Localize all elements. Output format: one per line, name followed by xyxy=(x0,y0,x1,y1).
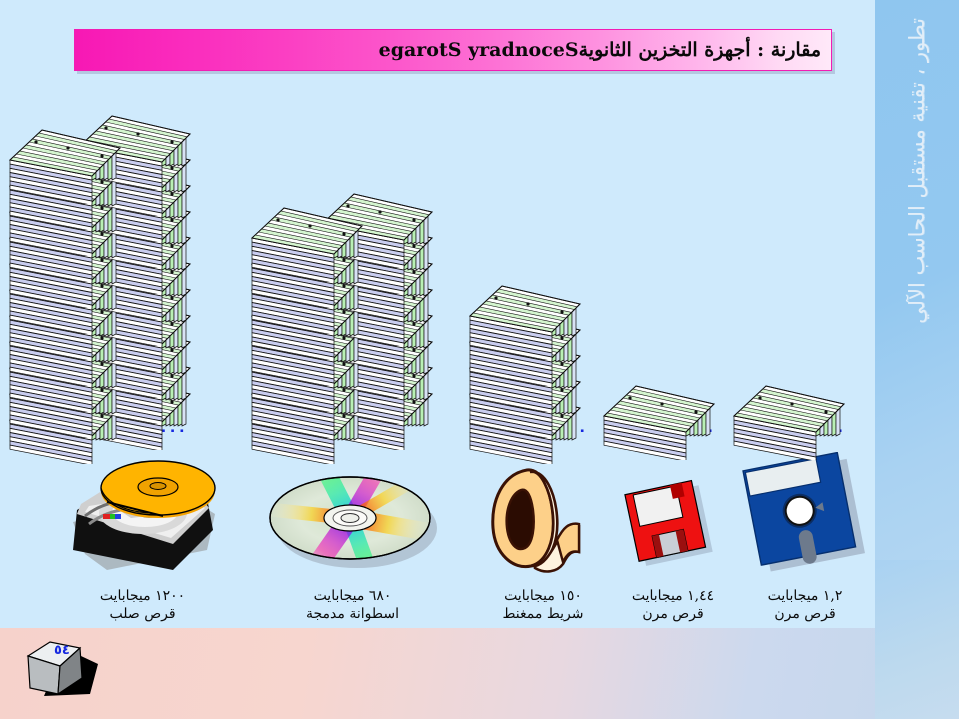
capacity-magnetic-tape: ١٥٠ ميجابايت xyxy=(504,588,582,604)
paper-ream xyxy=(6,126,124,204)
slide-canvas: تطور ، تقنية مستقبل الحاسب الآلي مقارنة … xyxy=(0,0,959,719)
hard-disk-icon xyxy=(55,458,220,573)
paper-ream xyxy=(466,282,584,360)
slide-sidebar-band-lower xyxy=(875,560,959,719)
slide-number: ٥٤ xyxy=(54,643,70,658)
paper-ream xyxy=(600,382,718,460)
device-caption-floppy-12: ١,٢ ميجابايت قرص مرن xyxy=(740,588,870,623)
device-name-floppy-12: قرص مرن xyxy=(740,606,870,624)
paper-ream xyxy=(248,204,366,282)
capacity-compact-disc: ٦٨٠ ميجابايت xyxy=(314,588,392,604)
page-title: مقارنة : أجهزة التخزين الثانويةSecondary… xyxy=(379,39,821,61)
capacity-floppy-144: ١,٤٤ ميجابايت xyxy=(632,588,714,604)
slide-number-key: ٥٤ xyxy=(24,634,120,704)
device-name-floppy-144: قرص مرن xyxy=(608,606,738,624)
paper-ream xyxy=(730,382,848,460)
device-caption-hard-disk: ١٢٠٠ ميجابايت قرص صلب xyxy=(55,588,230,623)
device-caption-floppy-144: ١,٤٤ ميجابايت قرص مرن xyxy=(608,588,738,623)
device-name-compact-disc: اسطوانة مدمجة xyxy=(265,606,440,624)
slide-sidebar-band xyxy=(875,0,959,628)
device-caption-compact-disc: ٦٨٠ ميجابايت اسطوانة مدمجة xyxy=(265,588,440,623)
compact-disc-icon xyxy=(262,468,442,573)
floppy-525-icon xyxy=(736,452,876,574)
slide-title-bar: مقارنة : أجهزة التخزين الثانويةSecondary… xyxy=(74,29,832,71)
magnetic-tape-icon xyxy=(483,466,598,574)
slide-footer-band xyxy=(0,628,959,719)
device-caption-magnetic-tape: ١٥٠ ميجابايت شريط ممغنط xyxy=(478,588,608,623)
device-name-hard-disk: قرص صلب xyxy=(55,606,230,624)
capacity-hard-disk: ١٢٠٠ ميجابايت xyxy=(100,588,185,604)
floppy-35-icon xyxy=(616,474,731,574)
capacity-floppy-12: ١,٢ ميجابايت xyxy=(768,588,843,604)
device-name-magnetic-tape: شريط ممغنط xyxy=(478,606,608,624)
